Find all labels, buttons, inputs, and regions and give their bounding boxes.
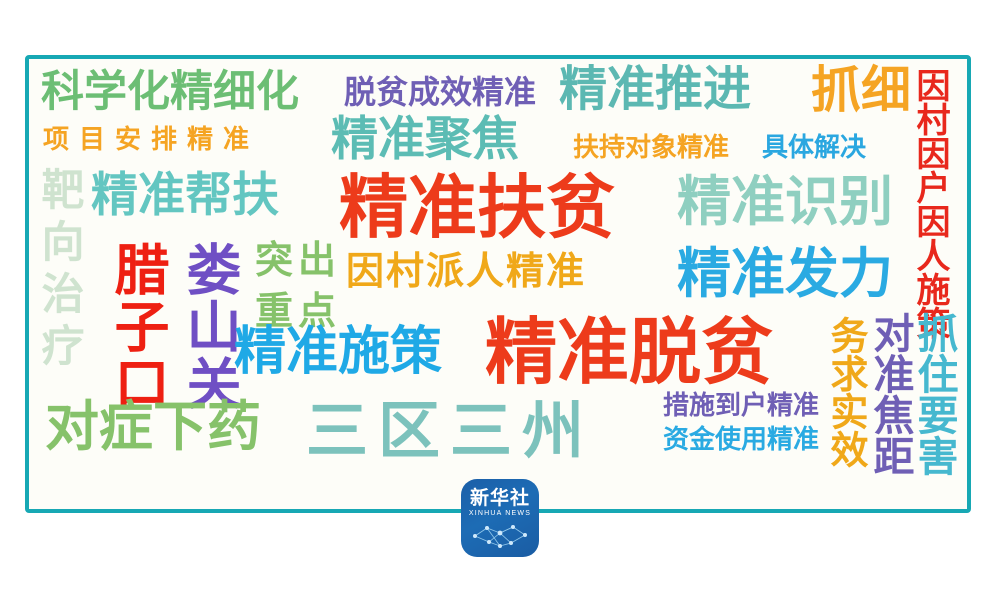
- word-jingzhun-shice: 精准施策: [234, 326, 442, 378]
- word-jingzhun-tuopin: 精准脱贫: [485, 316, 773, 388]
- word-cloud-poster: 科学化精细化 脱贫成效精准 精准推进 抓细 项目安排精准 精准聚焦 扶持对象精准…: [0, 0, 1000, 596]
- word-wuqiu-shixiao: 务求实效: [827, 316, 865, 468]
- word-yincun-pairen-jingzhun: 因村派人精准: [346, 252, 586, 290]
- xinhua-news-logo: 新华社 XINHUA NEWS: [461, 479, 539, 557]
- word-lazikou: 腊子口: [109, 241, 164, 412]
- network-graphic-icon: [469, 520, 531, 550]
- word-juti-jiejue: 具体解决: [762, 135, 866, 161]
- word-jingzhun-jujiao: 精准聚焦: [331, 116, 519, 163]
- word-tuopin-chengxiao-jingzhun: 脱贫成效精准: [344, 76, 536, 108]
- word-zijin-shiyong-jingzhun: 资金使用精准: [663, 427, 819, 453]
- word-fuchi-duixiang-jingzhun: 扶持对象精准: [573, 135, 729, 161]
- word-jingzhun-shibie: 精准识别: [677, 175, 893, 229]
- word-zhuazhu-yaohai: 抓住要害: [913, 312, 954, 476]
- logo-subtitle: XINHUA NEWS: [461, 510, 539, 518]
- poster-frame: 科学化精细化 脱贫成效精准 精准推进 抓细 项目安排精准 精准聚焦 扶持对象精准…: [25, 55, 971, 513]
- word-zhuaxi: 抓细: [811, 65, 911, 115]
- logo-title: 新华社: [461, 488, 539, 508]
- word-duizhun-jiaoju: 对准焦距: [869, 312, 910, 476]
- word-jingzhun-bangfu: 精准帮扶: [91, 172, 279, 219]
- word-jingzhun-fupin: 精准扶贫: [339, 174, 615, 243]
- word-yincun-yinhu-yinren-shice: 因村因户因人施策: [913, 68, 947, 340]
- word-sanqu-sanzhou: 三区三州: [306, 400, 594, 462]
- word-baxiang-zhiliao: 靶向治疗: [37, 167, 80, 375]
- word-tuchu: 突出: [255, 241, 341, 279]
- word-duizheng-xiayao: 对症下药: [45, 400, 261, 454]
- word-loushanguan: 娄山关: [181, 241, 236, 412]
- word-jingzhun-tuijin: 精准推进: [559, 65, 751, 113]
- word-cuoshi-daohu-jingzhun: 措施到户精准: [663, 393, 819, 419]
- word-jingzhun-fali: 精准发力: [677, 247, 893, 301]
- word-xiangmu-anpai-jingzhun: 项目安排精准: [43, 127, 259, 153]
- word-kexuehua-jingxihua: 科学化精细化: [41, 71, 299, 114]
